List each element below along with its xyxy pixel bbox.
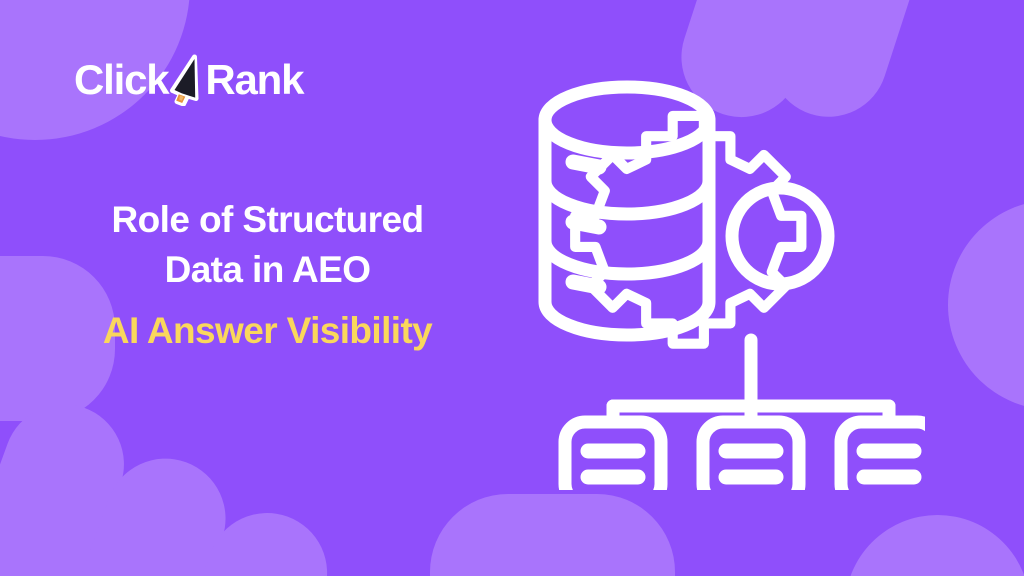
blob-bottom-center [430, 494, 675, 576]
blob-bottom-right-circle [845, 515, 1024, 576]
headline-line-2: Data in AEO [55, 245, 480, 295]
brand-logo[interactable]: Click Rank [74, 52, 303, 108]
illustration-svg [525, 70, 925, 490]
headline-block: Role of Structured Data in AEO AI Answer… [55, 195, 480, 356]
structured-data-illustration [525, 70, 925, 490]
blob-bottom-left-bar-2 [48, 442, 243, 576]
blob-bottom-left-bar-1 [0, 387, 141, 576]
brand-word-click: Click [74, 59, 168, 101]
blob-right-circle [948, 200, 1024, 410]
brand-word-rank: Rank [205, 59, 303, 101]
headline-line-1: Role of Structured [55, 195, 480, 245]
rocket-cursor-icon [165, 54, 207, 106]
banner: Click Rank Role of Structured Data in AE… [0, 0, 1024, 576]
hierarchy-tree-icon [565, 340, 925, 490]
headline-accent-line: AI Answer Visibility [55, 306, 480, 356]
blob-bottom-left-bar-3 [156, 496, 344, 576]
